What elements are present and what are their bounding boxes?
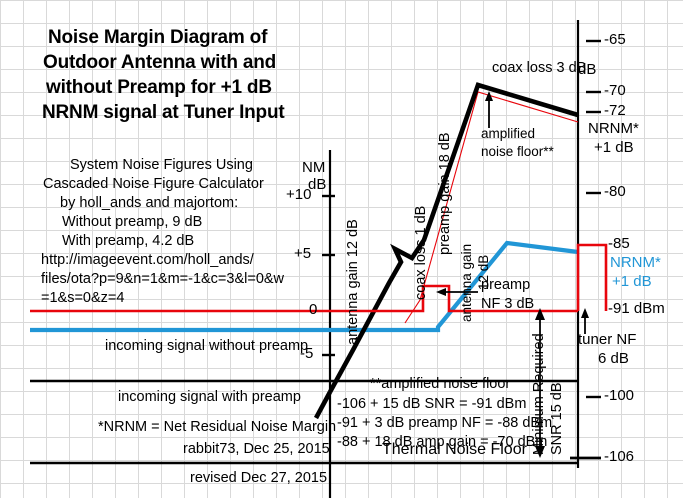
amplified-noise-line-2: noise floor** (481, 144, 554, 159)
nrnm-blue-line-2: +1 dB (612, 274, 652, 291)
left-tick-zero: 0 (309, 302, 317, 319)
nrnm-black-line-2: +1 dB (594, 140, 634, 157)
tuner-nf-line-2: 6 dB (598, 351, 629, 368)
subtitle-line-1: System Noise Figures Using (70, 157, 253, 173)
amplified-noise-line-1: amplified (481, 126, 535, 141)
title-line-3: without Preamp for +1 dB (46, 77, 272, 98)
incoming-with-preamp-label: incoming signal with preamp (118, 389, 301, 405)
right-tick--85: -85 (608, 236, 630, 253)
right-tick--91: -91 dBm (608, 301, 665, 318)
preamp-nf-arrowhead (436, 288, 446, 296)
footnote-calc-3: -88 + 18 dB amp gain = -70 dBm (337, 434, 547, 450)
preamp-gain-18db-label: preamp gain 18 dB (437, 132, 453, 255)
subtitle-line-4: Without preamp, 9 dB (62, 214, 202, 230)
right-tick--100: -100 (604, 388, 634, 405)
noise-margin-diagram: Noise Margin Diagram of Outdoor Antenna … (0, 0, 683, 498)
left-axis-unit-1: NM (302, 160, 325, 177)
title-line-1: Noise Margin Diagram of (48, 27, 267, 48)
footnote-revised: revised Dec 27, 2015 (190, 470, 327, 486)
antenna-gain-small-line-1: antenna gain (459, 244, 474, 322)
antenna-gain-12db-label: antenna gain 12 dB (345, 219, 361, 345)
tuner-nf-line-1: tuner NF (578, 332, 636, 349)
left-tick-plus10: +10 (286, 187, 311, 204)
subtitle-url-line-2[interactable]: files/ota?p=9&n=1&m=-1&c=3&l=0&w (41, 271, 284, 287)
subtitle-line-2: Cascaded Noise Figure Calculator (43, 176, 264, 192)
coax-loss-3db-label: coax loss 3 dB (492, 60, 586, 76)
subtitle-url-line-1[interactable]: http://imageevent.com/holl_ands/ (41, 252, 254, 268)
footnote-calc-1: -106 + 15 dB SNR = -91 dBm (337, 396, 526, 412)
subtitle-line-5: With preamp, 4.2 dB (62, 233, 194, 249)
footnote-amp-header: **amplified noise floor (370, 376, 510, 392)
right-tick--80: -80 (604, 184, 626, 201)
right-tick--65: -65 (604, 32, 626, 49)
subtitle-line-3: by holl_ands and majortom: (60, 195, 238, 211)
title-line-4: NRNM signal at Tuner Input (42, 102, 285, 123)
incoming-without-preamp-label: incoming signal without preamp (105, 338, 308, 354)
footnote-author: rabbit73, Dec 25, 2015 (183, 441, 330, 457)
tuner-nf-box (578, 245, 606, 311)
black-trace-lower (316, 392, 330, 418)
coax-loss-1db-label: coax loss 1 dB (413, 206, 429, 300)
preamp-nf-line-1: preamp (481, 277, 530, 293)
title-line-2: Outdoor Antenna with and (43, 52, 276, 73)
footnote-nrnm-definition: *NRNM = Net Residual Noise Margin (98, 419, 336, 435)
right-tick--70: -70 (604, 83, 626, 100)
subtitle-url-line-3[interactable]: =1&s=0&z=4 (41, 290, 124, 306)
right-tick--72: -72 (604, 103, 626, 120)
nrnm-blue-line-1: NRNM* (610, 255, 661, 272)
tuner-nf-arrowhead (581, 308, 589, 318)
nrnm-black-line-1: NRNM* (588, 121, 639, 138)
preamp-nf-line-2: NF 3 dB (481, 296, 534, 312)
right-tick--106: -106 (604, 449, 634, 466)
left-tick-plus5: +5 (294, 246, 311, 263)
footnote-calc-2: -91 + 3 dB preamp NF = -88 dBm (337, 415, 552, 431)
